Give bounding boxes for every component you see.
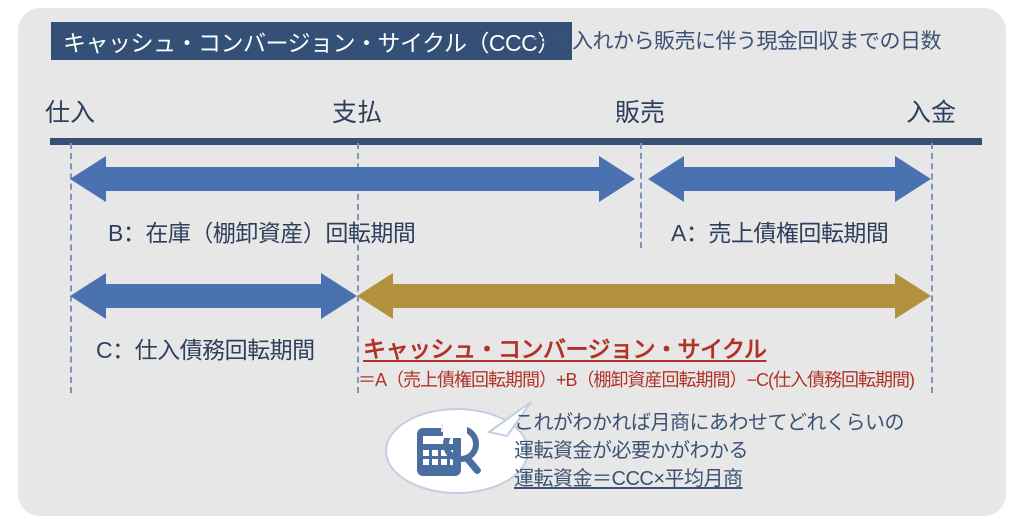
- diagram-canvas: キャッシュ・コンバージョン・サイクル（CCC） ＝仕入れから販売に伴う現金回収ま…: [0, 0, 1024, 524]
- arrow-period-A: [648, 154, 931, 204]
- milestone-label-shiire: 仕入: [45, 93, 95, 129]
- caption-period-C: C：仕入債務回転期間: [96, 331, 315, 365]
- arrow-period-CCC: [357, 271, 931, 321]
- callout-line-3: 運転資金＝CCC×平均月商: [514, 465, 904, 493]
- arrow-period-C: [70, 271, 357, 321]
- ccc-title: キャッシュ・コンバージョン・サイクル: [363, 330, 766, 364]
- double-arrow-icon: [70, 271, 357, 321]
- caption-period-B: B：在庫（棚卸資産）回転期間: [108, 214, 415, 248]
- callout-line-2: 運転資金が必要かがわかる: [514, 437, 904, 465]
- diagram-title-text: キャッシュ・コンバージョン・サイクル（CCC）: [63, 24, 560, 58]
- timeline-axis: [50, 138, 982, 145]
- milestone-label-shiharai: 支払: [332, 93, 382, 129]
- milestone-label-hanbai: 販売: [615, 93, 665, 129]
- callout-line-1: これがわかれば月商にあわせてどれくらいの: [514, 409, 904, 437]
- double-arrow-icon: [70, 154, 635, 204]
- double-arrow-icon: [648, 154, 931, 204]
- double-arrow-icon: [357, 271, 931, 321]
- ccc-formula: ＝A（売上債権回転期間）+B（棚卸資産回転期間）−C(仕入債務回転期間): [358, 366, 914, 392]
- caption-period-A: A：売上債権回転期間: [671, 214, 888, 248]
- diagram-title-banner: キャッシュ・コンバージョン・サイクル（CCC）: [51, 22, 572, 60]
- callout-text: これがわかれば月商にあわせてどれくらいの 運転資金が必要かがわかる 運転資金＝C…: [514, 409, 904, 493]
- calculator-magnifier-icon: [413, 424, 489, 480]
- callout-icon: [413, 424, 489, 485]
- diagram-subtitle: ＝仕入れから販売に伴う現金回収までの日数: [531, 25, 941, 55]
- guide-line-hanbai: [640, 143, 642, 248]
- guide-line-nyukin: [931, 143, 933, 393]
- arrow-period-B: [70, 154, 635, 204]
- milestone-label-nyukin: 入金: [906, 93, 956, 129]
